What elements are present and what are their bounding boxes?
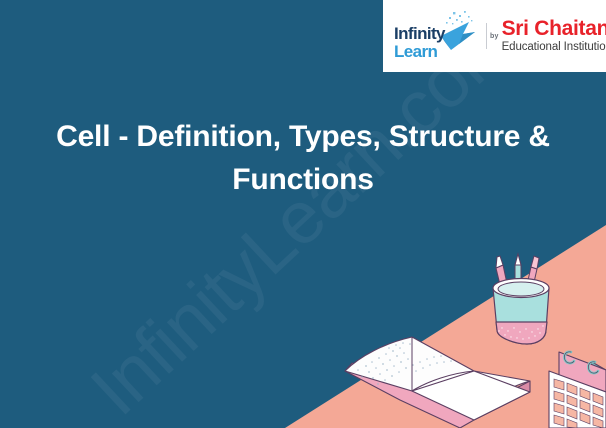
logo-connector-label: by — [490, 33, 499, 40]
infinity-learn-logo: Infinity Learn — [393, 8, 485, 64]
bird-mark-icon — [441, 11, 475, 50]
logo-lockup: Infinity Learn by Sri Chaitanya Educatio… — [383, 0, 606, 72]
partner-subtitle: Educational Institutions — [502, 42, 606, 54]
svg-text:Learn: Learn — [394, 42, 438, 61]
separator-rule — [486, 23, 487, 49]
svg-text:Infinity: Infinity — [394, 24, 446, 43]
logo-separator: by — [486, 23, 499, 49]
page-title: Cell - Definition, Types, Structure & Fu… — [18, 116, 588, 201]
partner-title: Sri Chaitanya — [502, 18, 606, 39]
banner-card: InfinityLearn.com — [0, 0, 606, 428]
sri-chaitanya-logo: Sri Chaitanya Educational Institutions — [502, 18, 606, 54]
